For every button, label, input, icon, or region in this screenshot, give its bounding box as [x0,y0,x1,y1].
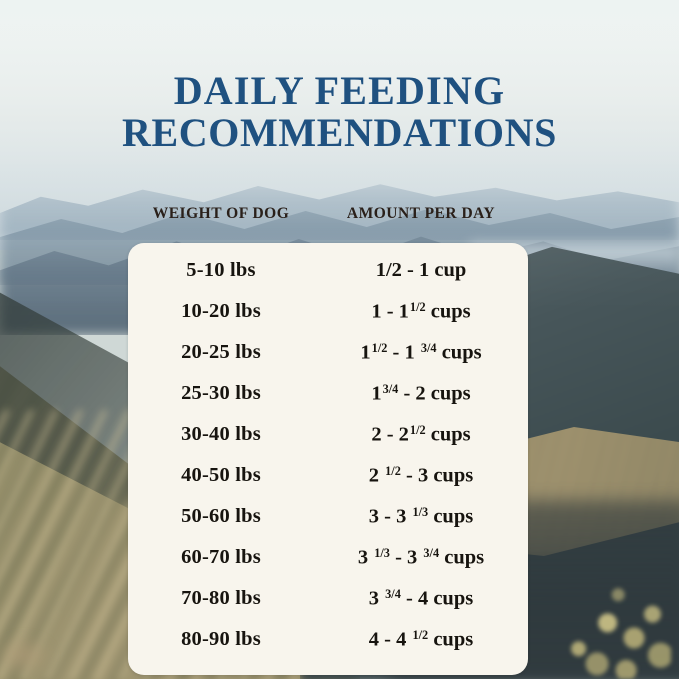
table-row: 50-60 lbs3 - 3 1/3 cups [128,496,528,537]
table-row: 20-25 lbs11/2 - 1 3/4 cups [128,332,528,373]
amount-text: - 1 [387,341,419,363]
amount-text: 4 - 4 [369,628,412,650]
amount-text: cups [439,546,484,568]
amount-cell: 3 3/4 - 4 cups [314,578,528,619]
amount-cell: 1 - 11/2 cups [314,291,528,332]
page-title-line-1: DAILY FEEDING [0,70,679,112]
amount-text: cups [426,423,471,445]
amount-text: cups [428,628,473,650]
fraction: 3/4 [385,587,401,601]
column-header-amount-per-day: AMOUNT PER DAY [314,205,528,223]
table-row: 30-40 lbs2 - 21/2 cups [128,414,528,455]
amount-cell: 11/2 - 1 3/4 cups [314,332,528,373]
amount-cell: 3 - 3 1/3 cups [314,496,528,537]
amount-text: - 3 [390,546,422,568]
fraction: 3/4 [383,382,399,396]
table-row: 80-90 lbs4 - 4 1/2 cups [128,619,528,660]
column-header-weight-of-dog: WEIGHT OF DOG [128,205,314,223]
fraction: 1/2 [410,300,426,314]
fraction: 3/4 [423,546,439,560]
fraction: 1/2 [412,628,428,642]
amount-text: cups [437,341,482,363]
amount-text: 1 - 1 [371,300,409,322]
amount-text: 3 [358,546,373,568]
amount-cell: 4 - 4 1/2 cups [314,619,528,660]
table-row: 40-50 lbs2 1/2 - 3 cups [128,455,528,496]
amount-cell: 3 1/3 - 3 3/4 cups [314,537,528,578]
feeding-table-card: 5-10 lbs1/2 - 1 cup10-20 lbs1 - 11/2 cup… [128,243,528,675]
weight-cell: 25-30 lbs [128,373,314,414]
table-row: 25-30 lbs13/4 - 2 cups [128,373,528,414]
amount-cell: 2 - 21/2 cups [314,414,528,455]
weight-cell: 20-25 lbs [128,332,314,373]
amount-text: - 2 cups [398,382,470,404]
fraction: 1/2 [385,464,401,478]
weight-cell: 60-70 lbs [128,537,314,578]
amount-cell: 2 1/2 - 3 cups [314,455,528,496]
amount-text: - 3 cups [401,464,473,486]
amount-text: 1 [371,382,381,404]
fraction: 1/3 [412,505,428,519]
fraction: 1/2 [372,341,388,355]
weight-cell: 50-60 lbs [128,496,314,537]
weight-cell: 80-90 lbs [128,619,314,660]
fraction: 1/2 [410,423,426,437]
amount-text: 2 [369,464,384,486]
amount-text: 3 [369,587,384,609]
amount-text: cups [428,505,473,527]
table-row: 5-10 lbs1/2 - 1 cup [128,250,528,291]
weight-cell: 10-20 lbs [128,291,314,332]
amount-cell: 13/4 - 2 cups [314,373,528,414]
amount-cell: 1/2 - 1 cup [314,250,528,291]
feeding-table: 5-10 lbs1/2 - 1 cup10-20 lbs1 - 11/2 cup… [128,250,528,660]
amount-text: 1 [360,341,370,363]
table-row: 10-20 lbs1 - 11/2 cups [128,291,528,332]
amount-text: 3 - 3 [369,505,412,527]
weight-cell: 5-10 lbs [128,250,314,291]
amount-text: 2 - 2 [371,423,409,445]
weight-cell: 70-80 lbs [128,578,314,619]
feeding-table-body: 5-10 lbs1/2 - 1 cup10-20 lbs1 - 11/2 cup… [128,250,528,660]
weight-cell: 40-50 lbs [128,455,314,496]
amount-text: - 4 cups [401,587,473,609]
fraction: 3/4 [421,341,437,355]
page-title-line-2: RECOMMENDATIONS [0,112,679,154]
weight-cell: 30-40 lbs [128,414,314,455]
column-headers: WEIGHT OF DOG AMOUNT PER DAY [128,205,528,223]
page-title: DAILY FEEDING RECOMMENDATIONS [0,70,679,154]
fraction: 1/3 [374,546,390,560]
table-row: 70-80 lbs3 3/4 - 4 cups [128,578,528,619]
amount-text: 1/2 - 1 cup [376,259,467,281]
table-row: 60-70 lbs3 1/3 - 3 3/4 cups [128,537,528,578]
amount-text: cups [426,300,471,322]
